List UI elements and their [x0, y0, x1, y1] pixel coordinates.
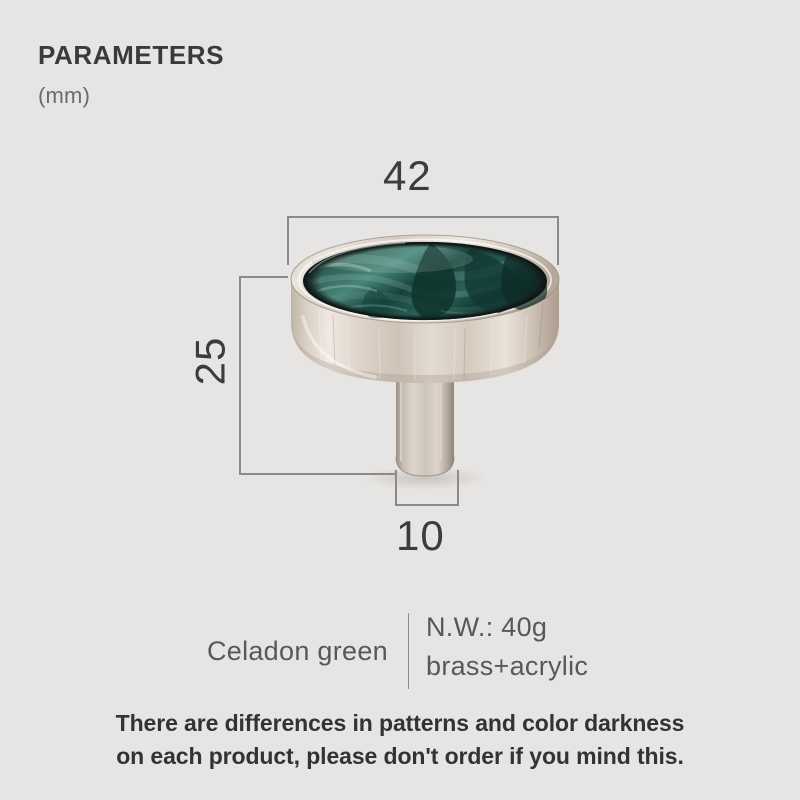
dimension-label-width: 42: [383, 155, 432, 197]
page-title: PARAMETERS: [38, 41, 224, 70]
product-parameters-page: PARAMETERS (mm) 42 25 10: [0, 0, 800, 800]
disclaimer: There are differences in patterns and co…: [0, 707, 800, 772]
dimension-label-stem: 10: [396, 515, 445, 557]
disclaimer-line-1: There are differences in patterns and co…: [0, 707, 800, 740]
spec-row: Celadon green N.W.: 40g brass+acrylic: [0, 608, 800, 694]
knob-acrylic-inlay: [303, 242, 547, 320]
spec-details: N.W.: 40g brass+acrylic: [426, 608, 588, 686]
cabinet-knob-image: [255, 225, 595, 515]
spec-net-weight: N.W.: 40g: [426, 608, 588, 647]
disclaimer-line-2: on each product, please don't order if y…: [0, 740, 800, 773]
spec-divider: [408, 613, 409, 689]
unit-label: (mm): [38, 84, 90, 108]
spec-material: brass+acrylic: [426, 647, 588, 686]
spec-color-name: Celadon green: [207, 636, 388, 667]
dimension-label-height: 25: [189, 337, 231, 386]
